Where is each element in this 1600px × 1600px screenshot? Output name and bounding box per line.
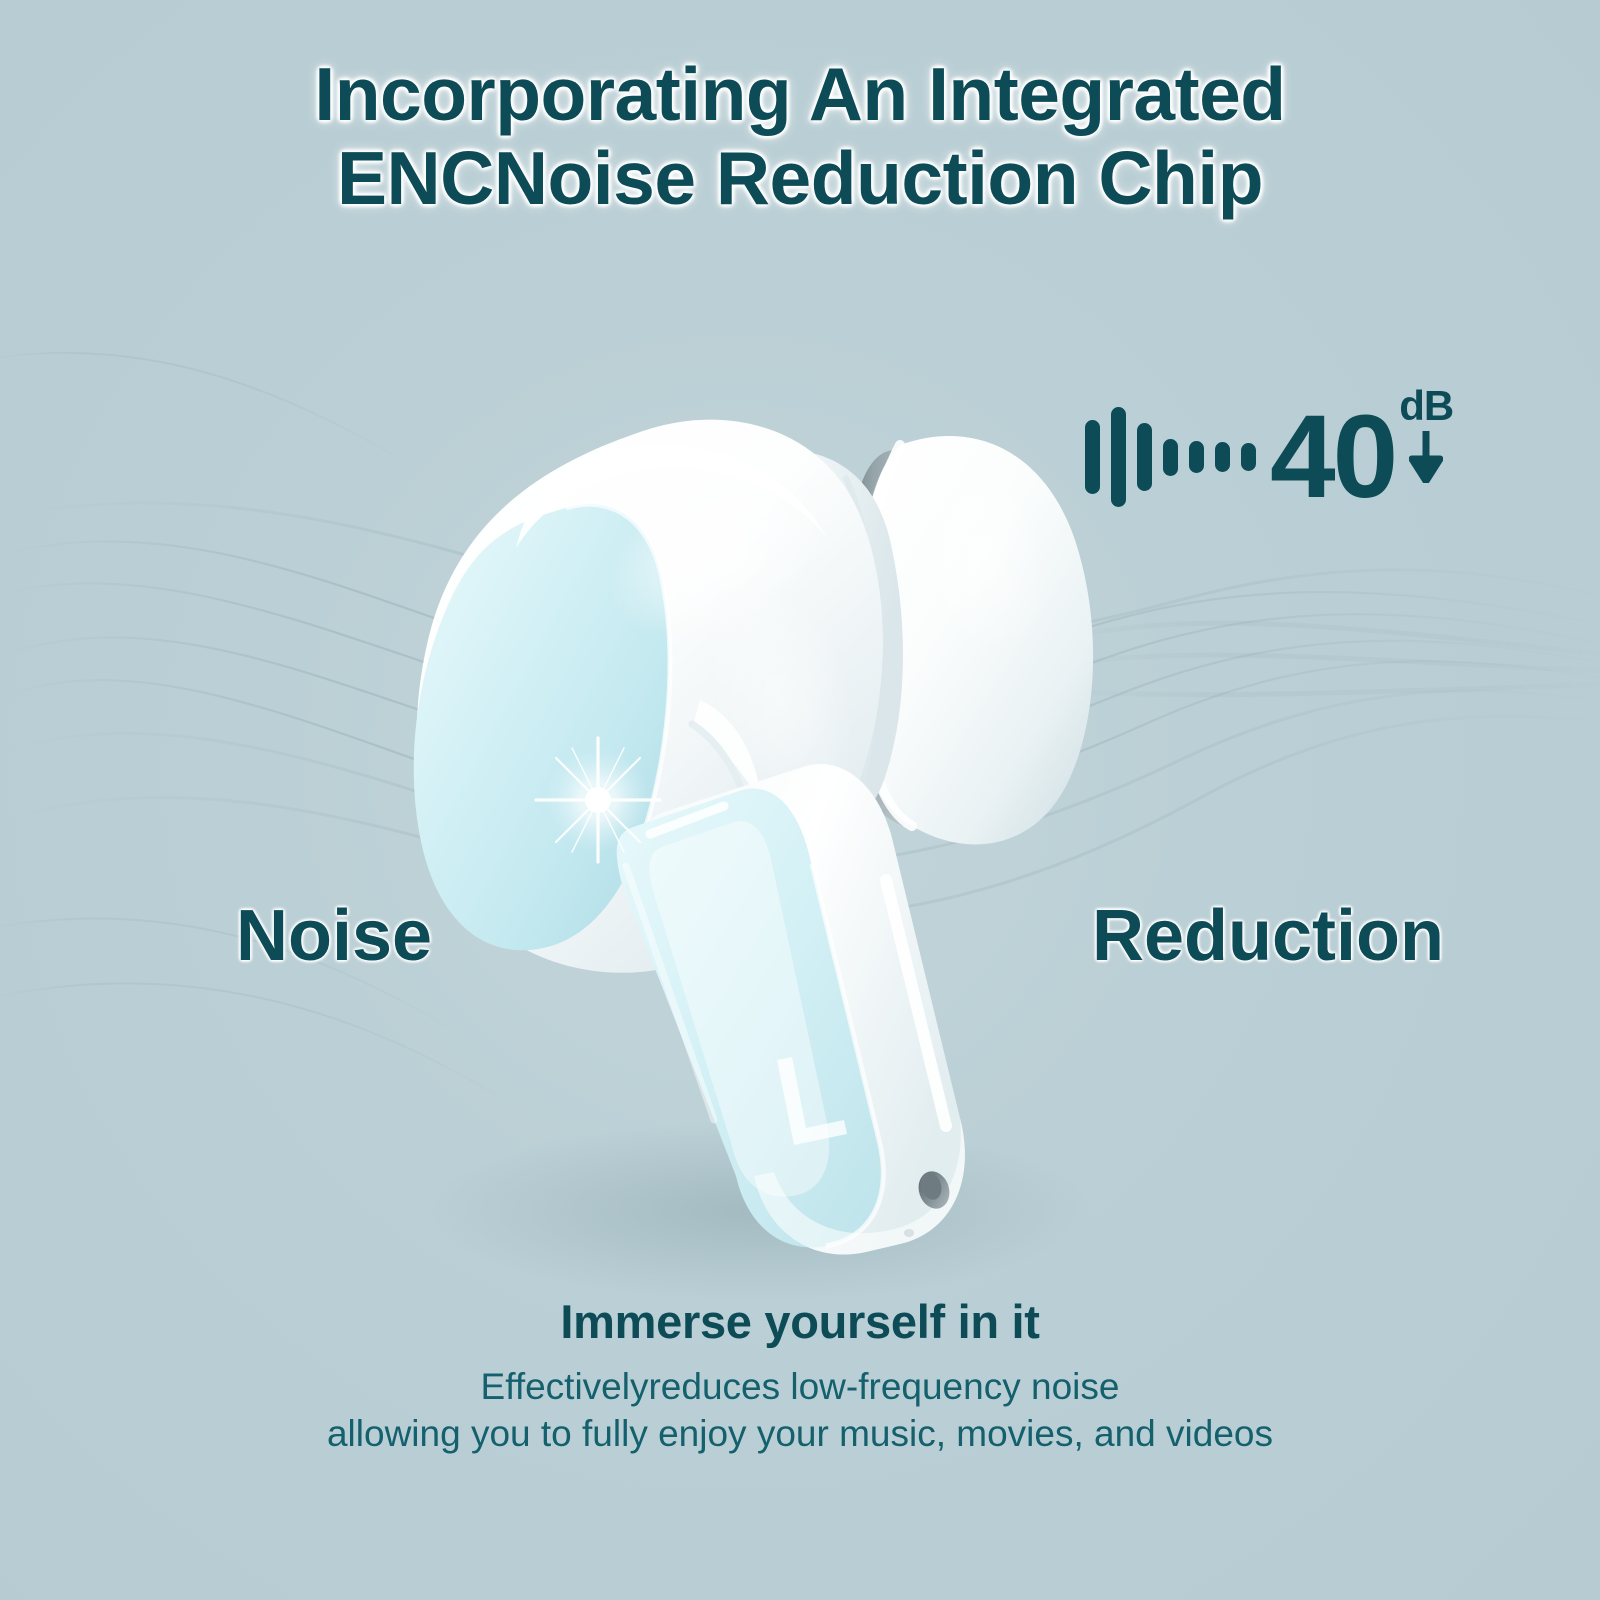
wave-bar [1189,441,1204,473]
bottom-copy-block: Immerse yourself in it Effectivelyreduce… [0,1296,1600,1458]
wave-bar [1215,442,1230,472]
label-noise: Noise [236,900,432,972]
label-reduction: Reduction [1092,900,1444,972]
microphone-hole-icon [914,1167,954,1212]
sparkle-glint-icon [536,738,660,862]
bottom-heading: Immerse yourself in it [0,1296,1600,1348]
arrow-down-icon [1409,431,1443,483]
earbud-stem [617,764,965,1255]
channel-marking-L [777,1057,847,1145]
db-value: 40 [1270,398,1395,516]
wave-bar [1111,407,1126,507]
wave-bar [1085,420,1100,494]
earbud-nozzle [644,450,903,846]
silicone-ear-tip-icon [844,436,1093,845]
product-feature-poster: Incorporating An Integrated ENCNoise Red… [0,0,1600,1600]
wave-bar [1137,423,1152,491]
product-shadow [430,1120,1090,1300]
page-title: Incorporating An Integrated ENCNoise Red… [0,52,1600,220]
db-unit-label: dB [1399,385,1453,427]
noise-reduction-db-badge: 40 dB [1085,398,1453,516]
bottom-subtext-line-2: allowing you to fully enjoy your music, … [0,1411,1600,1458]
sound-wave-bars-icon [1085,403,1256,511]
wave-bar [1163,439,1178,476]
bottom-subtext-line-1: Effectivelyreduces low-frequency noise [0,1364,1600,1411]
headline-line-1: Incorporating An Integrated [0,52,1600,136]
wave-bar [1241,443,1256,471]
earbud-body [414,420,883,973]
headline-line-2: ENCNoise Reduction Chip [0,136,1600,220]
